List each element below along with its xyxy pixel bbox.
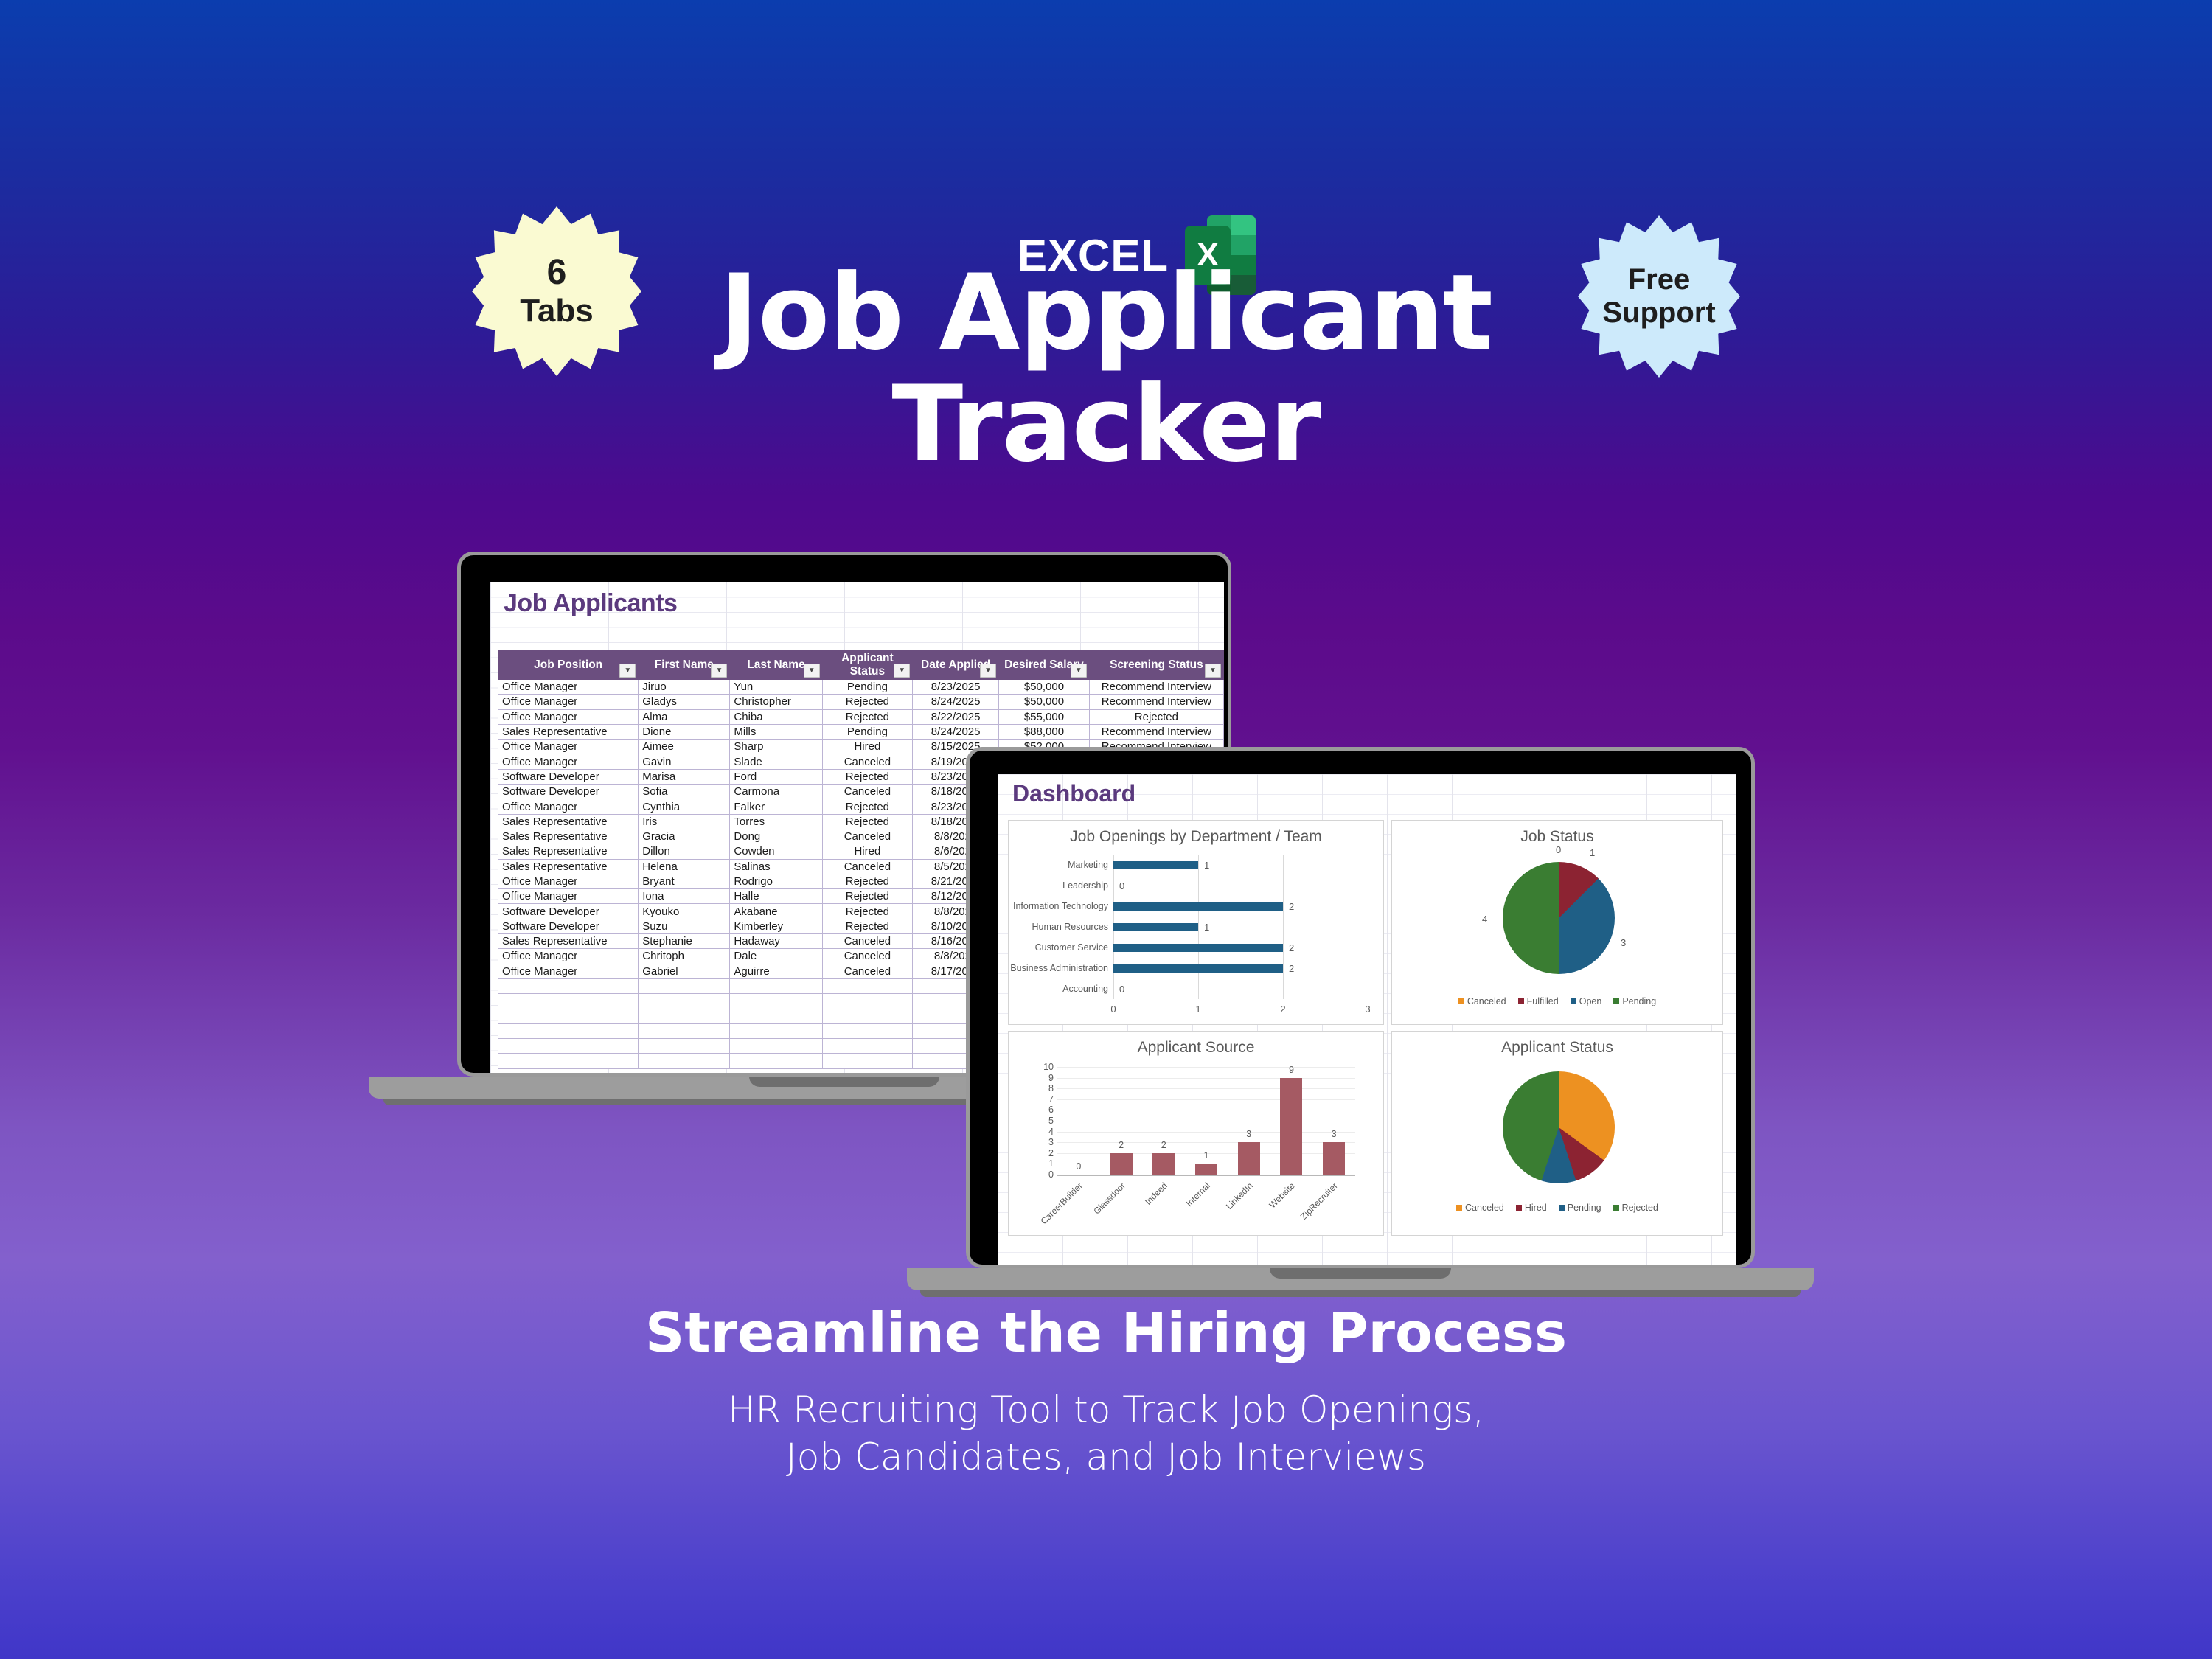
- chart-gridline: [1057, 1121, 1355, 1121]
- horizontal-bar-chart: 0123Marketing1Leadership0Information Tec…: [1113, 855, 1368, 999]
- legend-item: Pending: [1613, 996, 1656, 1006]
- footer-subtext-line2: Job Candidates, and Job Interviews: [0, 1433, 2212, 1481]
- bar-category-label: Information Technology: [1013, 901, 1108, 911]
- bar-fill: [1113, 923, 1198, 931]
- table-cell[interactable]: $88,000: [999, 724, 1090, 739]
- laptop-base-2: [907, 1268, 1814, 1290]
- bar-row: Business Administration2: [1113, 964, 1294, 973]
- bar-fill: [1113, 964, 1283, 973]
- table-cell[interactable]: Recommend Interview: [1089, 680, 1223, 695]
- table-cell[interactable]: $55,000: [999, 709, 1090, 724]
- table-cell[interactable]: [730, 1009, 822, 1023]
- column-header-desired-salary[interactable]: Desired Salary▼: [999, 650, 1090, 680]
- table-cell[interactable]: Gavin: [639, 754, 730, 769]
- table-cell[interactable]: Office Manager: [498, 709, 639, 724]
- table-cell[interactable]: Rejected: [822, 799, 912, 814]
- table-cell[interactable]: [498, 994, 639, 1009]
- table-cell[interactable]: [639, 1054, 730, 1068]
- bar-value-label: 9: [1289, 1065, 1294, 1075]
- bar-category-label: Customer Service: [1035, 942, 1108, 953]
- table-cell[interactable]: Software Developer: [498, 785, 639, 799]
- filter-dropdown-icon[interactable]: ▼: [1205, 664, 1221, 678]
- table-cell[interactable]: Hadaway: [730, 934, 822, 949]
- table-cell[interactable]: Mills: [730, 724, 822, 739]
- table-cell[interactable]: Office Manager: [498, 695, 639, 709]
- table-cell[interactable]: Christopher: [730, 695, 822, 709]
- table-cell[interactable]: Sales Representative: [498, 859, 639, 874]
- legend-swatch: [1571, 998, 1576, 1004]
- legend-label: Canceled: [1465, 1203, 1504, 1213]
- legend-label: Open: [1579, 996, 1602, 1006]
- column-header-screening-status[interactable]: Screening Status▼: [1089, 650, 1223, 680]
- table-cell[interactable]: Rejected: [822, 889, 912, 904]
- legend-applicant-status: CanceledHiredPendingRejected: [1392, 1203, 1722, 1213]
- table-cell[interactable]: Office Manager: [498, 680, 639, 695]
- legend-label: Canceled: [1467, 996, 1506, 1006]
- chart-gridline: [1057, 1067, 1355, 1068]
- bar-fill: [1113, 861, 1198, 869]
- chart-panel-job-openings[interactable]: Job Openings by Department / Team 0123Ma…: [1008, 820, 1384, 1025]
- page-title-line2: Tracker: [0, 369, 2212, 481]
- hero-section: EXCEL X 6 Tabs Free Support Job Applican…: [0, 0, 2212, 575]
- dashboard-screen: Dashboard Job Openings by Department / T…: [998, 774, 1736, 1268]
- x-axis-tick: 2: [1280, 1004, 1285, 1015]
- table-cell[interactable]: Sales Representative: [498, 724, 639, 739]
- legend-swatch: [1559, 1205, 1565, 1211]
- pie-label-pending: 4: [1482, 914, 1487, 925]
- table-cell[interactable]: Chiba: [730, 709, 822, 724]
- table-cell[interactable]: Office Manager: [498, 754, 639, 769]
- table-cell[interactable]: Sales Representative: [498, 934, 639, 949]
- table-cell[interactable]: Stephanie: [639, 934, 730, 949]
- table-cell[interactable]: Salinas: [730, 859, 822, 874]
- bar-column: [1280, 1078, 1302, 1175]
- y-axis-tick: 8: [1040, 1083, 1054, 1093]
- bar-row: Human Resources1: [1113, 922, 1209, 931]
- filter-dropdown-icon[interactable]: ▼: [980, 664, 996, 678]
- chart-gridline: [1057, 1132, 1355, 1133]
- table-cell[interactable]: Sales Representative: [498, 829, 639, 844]
- table-cell[interactable]: [639, 994, 730, 1009]
- legend-swatch: [1458, 998, 1464, 1004]
- legend-swatch: [1456, 1205, 1462, 1211]
- table-cell[interactable]: 8/22/2025: [913, 709, 999, 724]
- table-cell[interactable]: Iris: [639, 814, 730, 829]
- table-cell[interactable]: Sales Representative: [498, 844, 639, 859]
- x-axis-tick: 1: [1195, 1004, 1200, 1015]
- table-cell[interactable]: [822, 1054, 912, 1068]
- table-cell[interactable]: [730, 978, 822, 993]
- y-axis-tick: 7: [1040, 1094, 1054, 1105]
- table-cell[interactable]: Office Manager: [498, 799, 639, 814]
- table-cell[interactable]: Dale: [730, 949, 822, 964]
- chart-gridline: [1057, 1142, 1355, 1143]
- bar-column: [1238, 1142, 1260, 1175]
- filter-dropdown-icon[interactable]: ▼: [711, 664, 727, 678]
- table-cell[interactable]: [822, 1009, 912, 1023]
- table-cell[interactable]: [730, 994, 822, 1009]
- column-header-job-position[interactable]: Job Position▼: [498, 650, 639, 680]
- table-cell[interactable]: Aimee: [639, 740, 730, 754]
- y-axis-tick: 10: [1040, 1062, 1054, 1072]
- pie-label-fulfilled: 1: [1590, 847, 1595, 858]
- table-cell[interactable]: 8/23/2025: [913, 680, 999, 695]
- legend-label: Fulfilled: [1527, 996, 1559, 1006]
- chart-gridline: [1057, 1099, 1355, 1100]
- y-axis-tick: 9: [1040, 1073, 1054, 1083]
- bar-value-label: 2: [1119, 1140, 1124, 1150]
- table-cell[interactable]: Jiruo: [639, 680, 730, 695]
- table-cell[interactable]: [730, 1054, 822, 1068]
- legend-item: Fulfilled: [1518, 996, 1559, 1006]
- table-cell[interactable]: Carmona: [730, 785, 822, 799]
- legend-swatch: [1518, 998, 1524, 1004]
- table-cell[interactable]: $50,000: [999, 695, 1090, 709]
- column-header-last-name[interactable]: Last Name▼: [730, 650, 822, 680]
- table-cell[interactable]: Akabane: [730, 904, 822, 919]
- table-row[interactable]: Office ManagerAlmaChibaRejected8/22/2025…: [498, 709, 1224, 724]
- bar-value-label: 1: [1204, 1150, 1209, 1161]
- table-cell[interactable]: Software Developer: [498, 769, 639, 784]
- table-cell[interactable]: Torres: [730, 814, 822, 829]
- table-cell[interactable]: Kyouko: [639, 904, 730, 919]
- table-cell[interactable]: Canceled: [822, 829, 912, 844]
- chart-title-job-openings: Job Openings by Department / Team: [1009, 828, 1383, 846]
- bar-column: [1323, 1142, 1345, 1175]
- excel-sheet-dashboard: Dashboard Job Openings by Department / T…: [998, 774, 1736, 1268]
- table-cell[interactable]: [822, 978, 912, 993]
- table-cell[interactable]: Gracia: [639, 829, 730, 844]
- table-cell[interactable]: [498, 978, 639, 993]
- bar-fill: [1113, 944, 1283, 952]
- table-cell[interactable]: Dong: [730, 829, 822, 844]
- chart-gridline: [1057, 1088, 1355, 1089]
- table-cell[interactable]: [822, 1039, 912, 1054]
- legend-swatch: [1516, 1205, 1522, 1211]
- bar-category-label: Leadership: [1062, 880, 1108, 891]
- table-cell[interactable]: Recommend Interview: [1089, 695, 1223, 709]
- table-cell[interactable]: Yun: [730, 680, 822, 695]
- table-cell[interactable]: [498, 1039, 639, 1054]
- bar-fill: [1113, 902, 1283, 911]
- column-header-date-applied[interactable]: Date Applied▼: [913, 650, 999, 680]
- legend-swatch: [1613, 1205, 1619, 1211]
- table-row[interactable]: Office ManagerGladysChristopherRejected8…: [498, 695, 1224, 709]
- legend-item: Hired: [1516, 1203, 1547, 1213]
- bar-row: Information Technology2: [1113, 902, 1294, 911]
- table-cell[interactable]: Pending: [822, 724, 912, 739]
- bar-category-label: Marketing: [1068, 860, 1108, 870]
- bar-row: Accounting0: [1113, 984, 1124, 993]
- table-header-row: Job Position▼First Name▼Last Name▼Applic…: [498, 650, 1224, 680]
- pie-label-open: 3: [1621, 937, 1626, 948]
- table-cell[interactable]: Sofia: [639, 785, 730, 799]
- table-cell[interactable]: Halle: [730, 889, 822, 904]
- bar-category-label: Accounting: [1062, 984, 1108, 994]
- x-axis-tick: 0: [1110, 1004, 1116, 1015]
- bar-category-label: Human Resources: [1032, 922, 1108, 932]
- table-cell[interactable]: [498, 1009, 639, 1023]
- table-cell[interactable]: Rejected: [822, 695, 912, 709]
- table-cell[interactable]: Canceled: [822, 934, 912, 949]
- table-cell[interactable]: Canceled: [822, 949, 912, 964]
- filter-dropdown-icon[interactable]: ▼: [894, 664, 910, 678]
- chart-gridline: [1368, 855, 1368, 999]
- table-cell[interactable]: Rejected: [822, 709, 912, 724]
- table-cell[interactable]: Rejected: [822, 769, 912, 784]
- pie-label-canceled: 0: [1556, 844, 1561, 855]
- legend-item: Canceled: [1458, 996, 1506, 1006]
- table-cell[interactable]: Kimberley: [730, 919, 822, 933]
- table-cell[interactable]: Office Manager: [498, 740, 639, 754]
- chart-gridline: [1057, 1110, 1355, 1110]
- table-cell[interactable]: Sharp: [730, 740, 822, 754]
- table-cell[interactable]: Gabriel: [639, 964, 730, 978]
- table-row[interactable]: Office ManagerJiruoYunPending8/23/2025$5…: [498, 680, 1224, 695]
- y-axis-tick: 5: [1040, 1116, 1054, 1126]
- table-cell[interactable]: $50,000: [999, 680, 1090, 695]
- legend-label: Rejected: [1622, 1203, 1658, 1213]
- bar-column: [1195, 1164, 1217, 1175]
- table-cell[interactable]: 8/24/2025: [913, 695, 999, 709]
- y-axis-tick: 4: [1040, 1127, 1054, 1137]
- footer-subtext: HR Recruiting Tool to Track Job Openings…: [0, 1386, 2212, 1481]
- table-cell[interactable]: Sales Representative: [498, 814, 639, 829]
- table-cell[interactable]: Aguirre: [730, 964, 822, 978]
- table-cell[interactable]: Rejected: [1089, 709, 1223, 724]
- table-cell[interactable]: Canceled: [822, 964, 912, 978]
- table-cell[interactable]: Canceled: [822, 785, 912, 799]
- table-cell[interactable]: [639, 1039, 730, 1054]
- bar-column: [1152, 1153, 1175, 1175]
- chart-gridline: [1057, 1078, 1355, 1079]
- x-axis-tick: 3: [1365, 1004, 1370, 1015]
- filter-dropdown-icon[interactable]: ▼: [804, 664, 820, 678]
- legend-item: Canceled: [1456, 1203, 1504, 1213]
- legend-job-status: CanceledFulfilledOpenPending: [1392, 996, 1722, 1006]
- legend-item: Open: [1571, 996, 1602, 1006]
- column-header-applicant-status[interactable]: Applicant Status▼: [822, 650, 912, 680]
- table-cell[interactable]: Dillon: [639, 844, 730, 859]
- chart-panel-applicant-status[interactable]: Applicant Status CanceledHiredPendingRej…: [1391, 1031, 1723, 1236]
- table-cell[interactable]: Canceled: [822, 859, 912, 874]
- table-cell[interactable]: Slade: [730, 754, 822, 769]
- table-cell[interactable]: Chritoph: [639, 949, 730, 964]
- table-cell[interactable]: Marisa: [639, 769, 730, 784]
- table-cell[interactable]: Office Manager: [498, 889, 639, 904]
- table-cell[interactable]: [730, 1023, 822, 1038]
- table-cell[interactable]: [730, 1039, 822, 1054]
- footer-subtext-line1: HR Recruiting Tool to Track Job Openings…: [0, 1386, 2212, 1433]
- table-cell[interactable]: Software Developer: [498, 919, 639, 933]
- bar-value-label: 2: [1289, 901, 1294, 912]
- vertical-bar-chart: 0123456789100CareerBuilder2Glassdoor2Ind…: [1040, 1067, 1371, 1175]
- chart-panel-applicant-source[interactable]: Applicant Source 0123456789100CareerBuil…: [1008, 1031, 1384, 1236]
- laptop-dashboard: Dashboard Job Openings by Department / T…: [966, 747, 1755, 1268]
- table-cell[interactable]: Recommend Interview: [1089, 724, 1223, 739]
- table-cell[interactable]: Software Developer: [498, 904, 639, 919]
- bar-value-label: 0: [1119, 984, 1124, 995]
- chart-gridline: [1283, 855, 1284, 999]
- table-cell[interactable]: [822, 994, 912, 1009]
- table-cell[interactable]: Bryant: [639, 874, 730, 888]
- x-axis-line: [1057, 1175, 1355, 1176]
- page-title: Job Applicant Tracker: [0, 258, 2212, 480]
- table-cell[interactable]: Pending: [822, 680, 912, 695]
- y-axis-tick: 3: [1040, 1137, 1054, 1147]
- table-cell[interactable]: [498, 1023, 639, 1038]
- filter-dropdown-icon[interactable]: ▼: [619, 664, 636, 678]
- pie-job-status: [1503, 862, 1615, 974]
- bar-row: Leadership0: [1113, 881, 1124, 890]
- table-cell[interactable]: [822, 1023, 912, 1038]
- table-cell[interactable]: Alma: [639, 709, 730, 724]
- legend-label: Hired: [1525, 1203, 1547, 1213]
- dashboard-title: Dashboard: [1012, 780, 1135, 807]
- table-cell[interactable]: Hired: [822, 740, 912, 754]
- table-cell[interactable]: Helena: [639, 859, 730, 874]
- bar-category-label: Business Administration: [1010, 963, 1108, 973]
- chart-title-applicant-source: Applicant Source: [1009, 1039, 1383, 1057]
- table-cell[interactable]: [639, 1023, 730, 1038]
- table-cell[interactable]: 8/24/2025: [913, 724, 999, 739]
- y-axis-tick: 6: [1040, 1105, 1054, 1115]
- table-row[interactable]: Sales RepresentativeDioneMillsPending8/2…: [498, 724, 1224, 739]
- table-cell[interactable]: [639, 978, 730, 993]
- bar-value-label: 0: [1076, 1161, 1081, 1172]
- sheet-title: Job Applicants: [504, 589, 677, 618]
- bar-value-label: 3: [1246, 1129, 1251, 1139]
- laptop-lid-2: Dashboard Job Openings by Department / T…: [966, 747, 1755, 1268]
- laptop-base-shadow-2: [920, 1290, 1801, 1297]
- table-cell[interactable]: Ford: [730, 769, 822, 784]
- table-cell[interactable]: Dione: [639, 724, 730, 739]
- bar-value-label: 1: [1204, 922, 1209, 933]
- bar-value-label: 3: [1332, 1129, 1337, 1139]
- table-cell[interactable]: [639, 1009, 730, 1023]
- bar-value-label: 0: [1119, 880, 1124, 891]
- chart-title-applicant-status: Applicant Status: [1392, 1039, 1722, 1057]
- bar-value-label: 1: [1204, 860, 1209, 871]
- table-cell[interactable]: Suzu: [639, 919, 730, 933]
- table-cell[interactable]: Gladys: [639, 695, 730, 709]
- legend-swatch: [1613, 998, 1619, 1004]
- legend-label: Pending: [1622, 996, 1656, 1006]
- table-cell[interactable]: Rejected: [822, 919, 912, 933]
- bar-value-label: 2: [1161, 1140, 1166, 1150]
- page-title-line1: Job Applicant: [0, 258, 2212, 369]
- table-cell[interactable]: Office Manager: [498, 949, 639, 964]
- table-cell[interactable]: Rejected: [822, 814, 912, 829]
- y-axis-tick: 1: [1040, 1158, 1054, 1169]
- column-header-first-name[interactable]: First Name▼: [639, 650, 730, 680]
- table-cell[interactable]: Rodrigo: [730, 874, 822, 888]
- table-cell[interactable]: [498, 1054, 639, 1068]
- filter-dropdown-icon[interactable]: ▼: [1071, 664, 1087, 678]
- table-cell[interactable]: Iona: [639, 889, 730, 904]
- table-cell[interactable]: Cowden: [730, 844, 822, 859]
- bar-column: [1110, 1153, 1133, 1175]
- legend-item: Rejected: [1613, 1203, 1658, 1213]
- table-cell[interactable]: Hired: [822, 844, 912, 859]
- legend-item: Pending: [1559, 1203, 1601, 1213]
- pie-applicant-status: [1503, 1071, 1615, 1183]
- table-cell[interactable]: Office Manager: [498, 964, 639, 978]
- legend-label: Pending: [1568, 1203, 1601, 1213]
- bar-value-label: 2: [1289, 963, 1294, 974]
- table-cell[interactable]: Office Manager: [498, 874, 639, 888]
- chart-title-job-status: Job Status: [1392, 828, 1722, 846]
- table-cell[interactable]: Cynthia: [639, 799, 730, 814]
- bar-value-label: 2: [1289, 942, 1294, 953]
- table-cell[interactable]: Rejected: [822, 874, 912, 888]
- y-axis-tick: 0: [1040, 1169, 1054, 1180]
- bar-row: Customer Service2: [1113, 943, 1294, 952]
- chart-panel-job-status[interactable]: Job Status 0 1 3 4 CanceledFulfilledOpen…: [1391, 820, 1723, 1025]
- footer-headline: Streamline the Hiring Process: [0, 1301, 2212, 1365]
- bar-row: Marketing1: [1113, 860, 1209, 869]
- table-cell[interactable]: Canceled: [822, 754, 912, 769]
- table-cell[interactable]: Falker: [730, 799, 822, 814]
- y-axis-tick: 2: [1040, 1148, 1054, 1158]
- table-cell[interactable]: Rejected: [822, 904, 912, 919]
